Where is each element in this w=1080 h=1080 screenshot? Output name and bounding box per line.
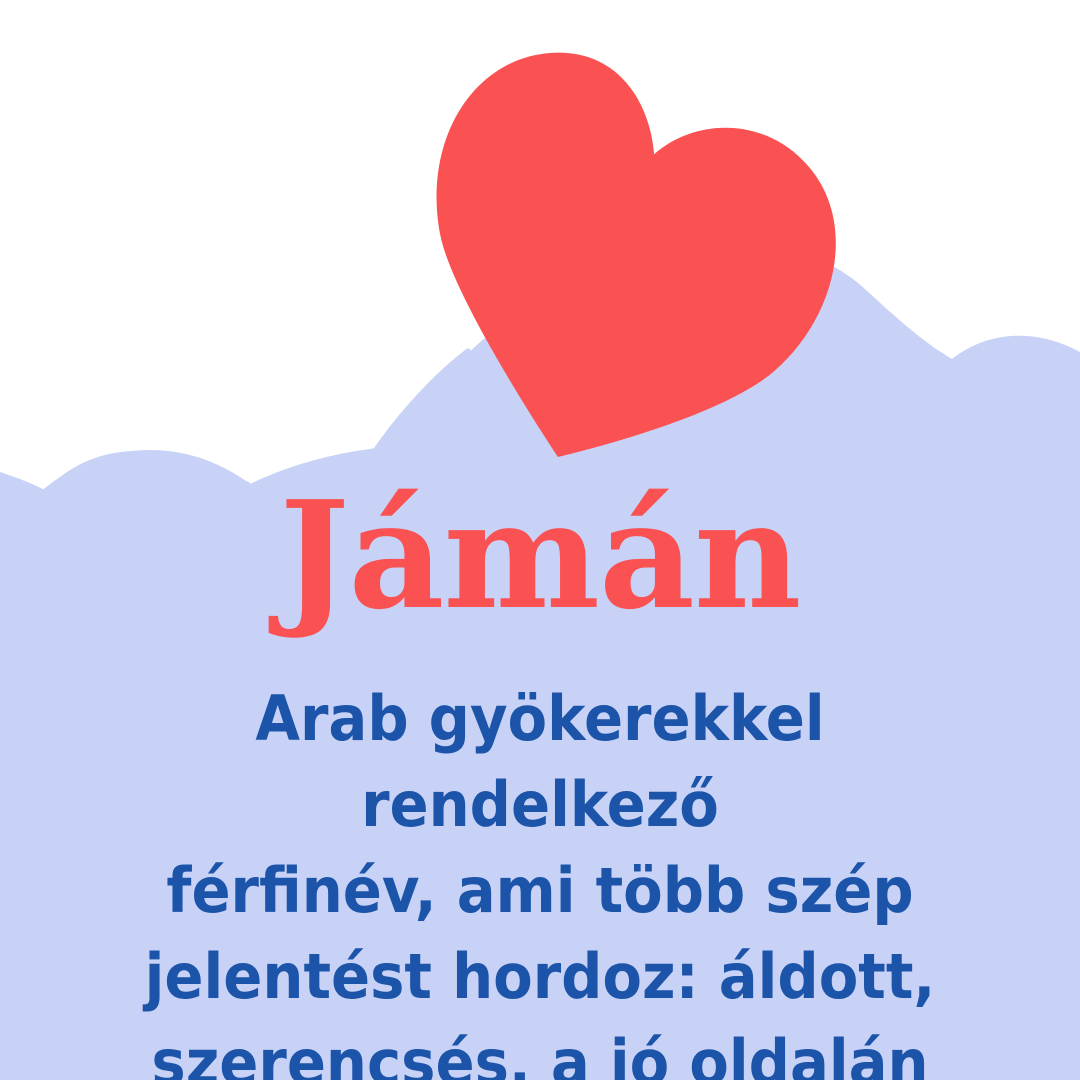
card-content: Jámán Arab gyökerekkel rendelkező férfin… xyxy=(0,0,1080,1080)
description-line: férfinév, ami több szép xyxy=(75,848,1005,934)
description-line: szerencsés, a jó oldalán álló. xyxy=(75,1020,1005,1080)
description-line: Arab gyökerekkel rendelkező xyxy=(75,676,1005,848)
name-meaning-card: Jámán Arab gyökerekkel rendelkező férfin… xyxy=(0,0,1080,1080)
page-title: Jámán xyxy=(0,481,1080,629)
name-description: Arab gyökerekkel rendelkező férfinév, am… xyxy=(75,676,1005,1080)
description-line: jelentést hordoz: áldott, xyxy=(75,934,1005,1020)
